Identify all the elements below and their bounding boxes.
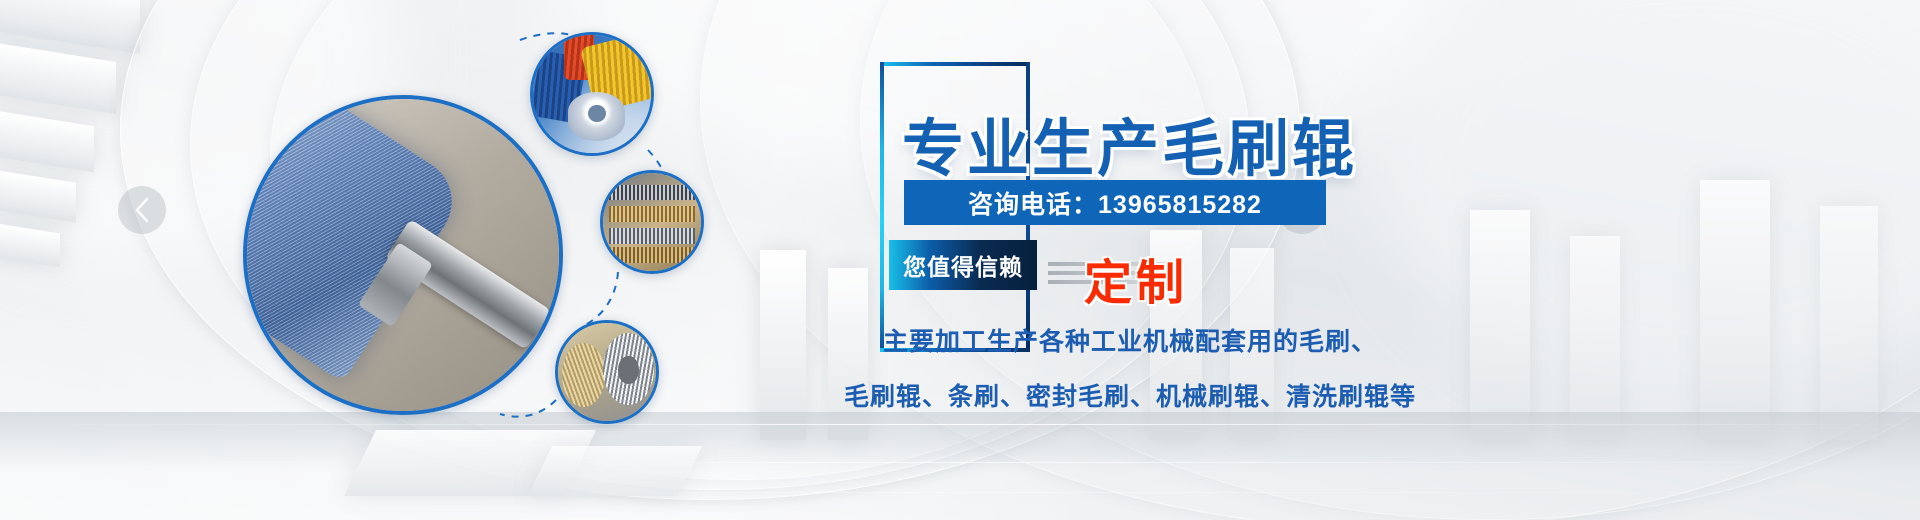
banner-text-block: 专业生产毛刷辊 咨询电话：13965815282 您值得信赖 定制 主要加工生产… — [880, 40, 1640, 480]
custom-tag: 定制 — [1084, 243, 1188, 313]
product-image-blue-brush-roller-main[interactable] — [243, 95, 563, 415]
banner-title: 专业生产毛刷辊 — [902, 98, 1357, 188]
promo-banner: 专业生产毛刷辊 咨询电话：13965815282 您值得信赖 定制 主要加工生产… — [0, 0, 1920, 520]
chevron-left-icon — [131, 195, 153, 225]
carousel-prev-button[interactable] — [118, 186, 166, 234]
banner-description: 主要加工生产各种工业机械配套用的毛刷、 毛刷辊、条刷、密封毛刷、机械刷辊、清洗刷… — [820, 330, 1440, 410]
description-line-2: 毛刷辊、条刷、密封毛刷、机械刷辊、清洗刷辊等 — [820, 385, 1440, 410]
description-line-1: 主要加工生产各种工业机械配套用的毛刷、 — [820, 330, 1440, 355]
product-image-wire-strip-brushes[interactable] — [600, 170, 704, 274]
phone-bar[interactable]: 咨询电话：13965815282 — [904, 180, 1326, 225]
trust-badge: 您值得信赖 — [889, 240, 1037, 290]
phone-text: 咨询电话：13965815282 — [968, 185, 1262, 221]
product-image-colored-disc-brushes[interactable] — [530, 32, 654, 156]
product-image-round-cleaning-brushes[interactable] — [555, 320, 659, 424]
trust-badge-label: 您值得信赖 — [903, 248, 1023, 282]
